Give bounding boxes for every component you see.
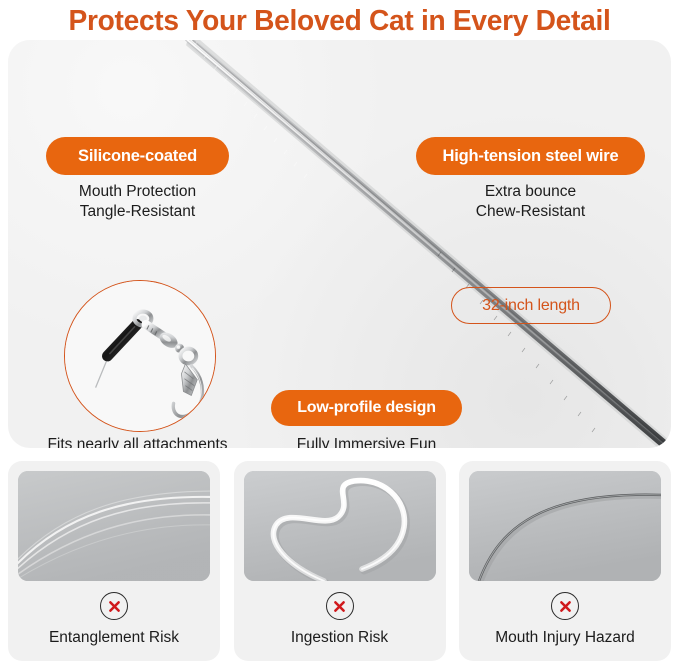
thick-white-cord-photo — [244, 471, 436, 581]
clip-swivel-attachment-photo — [65, 281, 215, 431]
x-circle-icon — [100, 592, 128, 620]
thin-tangled-strings-photo — [18, 471, 210, 581]
x-circle-icon — [326, 592, 354, 620]
hero-product-panel: Silicone-coated Mouth Protection Tangle-… — [8, 40, 671, 448]
caption-line-2: Tangle-Resistant — [46, 202, 229, 222]
tangled-strings-illustration — [18, 471, 210, 581]
warning-card-label: Ingestion Risk — [234, 629, 446, 647]
circle-callout-caption: Fits nearly all attachments — [18, 435, 257, 448]
bare-metal-wire-photo — [469, 471, 661, 581]
white-cord-illustration — [244, 471, 436, 581]
caption-line-1: Mouth Protection — [46, 182, 229, 202]
caption-line-1: Fully Immersive Fun — [271, 435, 462, 448]
feature-badge-silicone-coated: Silicone-coated — [46, 137, 229, 175]
feature-caption-low-profile-design: Fully Immersive Fun — [271, 435, 462, 448]
warning-card-mouth-injury-hazard: Mouth Injury Hazard — [459, 461, 671, 661]
feature-badge-low-profile-design: Low-profile design — [271, 390, 462, 426]
circle-callout-attachment — [64, 280, 216, 432]
bare-wire-illustration — [469, 471, 661, 581]
caption-line-1: Extra bounce — [416, 182, 645, 202]
feature-caption-high-tension-steel-wire: Extra bounce Chew-Resistant — [416, 182, 645, 222]
x-circle-icon — [551, 592, 579, 620]
warning-card-entanglement-risk: Entanglement Risk — [8, 461, 220, 661]
warning-card-label: Entanglement Risk — [8, 629, 220, 647]
feature-caption-silicone-coated: Mouth Protection Tangle-Resistant — [46, 182, 229, 222]
caption-line-2: Chew-Resistant — [416, 202, 645, 222]
feature-badge-high-tension-steel-wire: High-tension steel wire — [416, 137, 645, 175]
feature-badge-32-inch-length: 32-inch length — [451, 287, 611, 324]
page-title: Protects Your Beloved Cat in Every Detai… — [10, 0, 669, 40]
warning-card-ingestion-risk: Ingestion Risk — [234, 461, 446, 661]
warning-card-label: Mouth Injury Hazard — [459, 629, 671, 647]
warning-cards-row: Entanglement Risk — [8, 461, 671, 661]
